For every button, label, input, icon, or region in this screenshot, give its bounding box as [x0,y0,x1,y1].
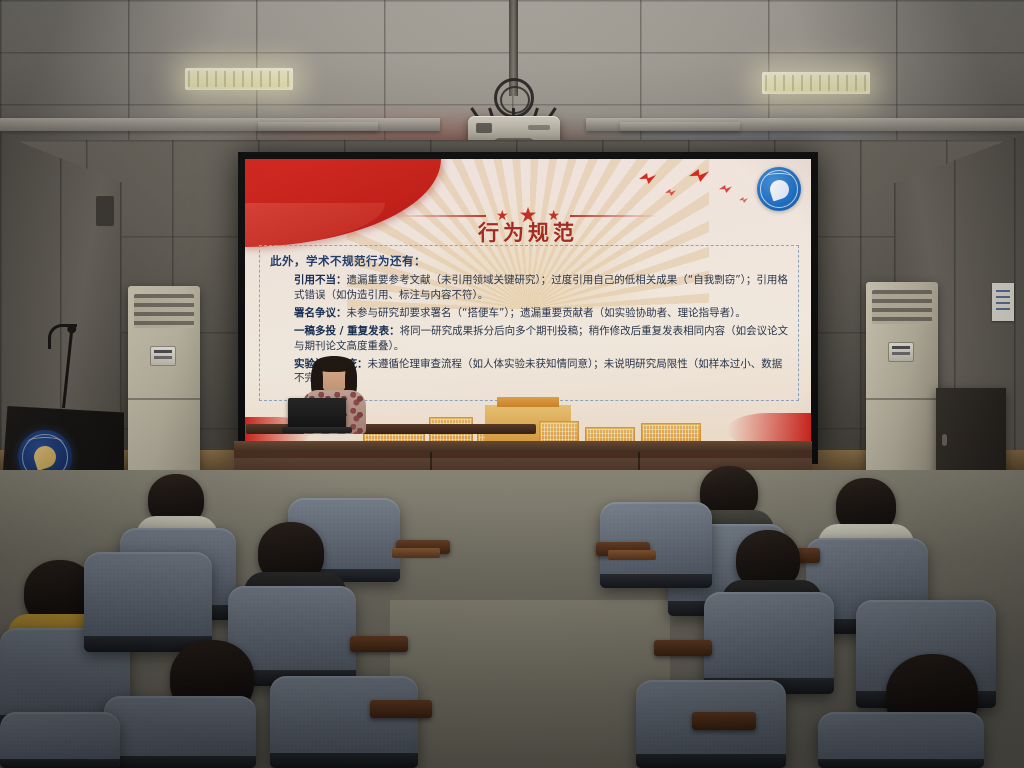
projector-label [528,125,550,130]
seat-row3-far-left[interactable] [0,712,120,768]
ac-vent-grille-left [134,294,194,328]
ac-seam-left [128,398,200,400]
projector-vent [476,123,492,133]
bullet-2-text: 未参与研究却要求署名（“搭便车”）；遗漏重要贡献者（如实验协助者、理论指导者）。 [347,307,746,319]
air-conditioner-right [866,282,938,478]
center-aisle [390,600,670,768]
air-conditioner-left [128,286,200,472]
seat-row3-right[interactable] [818,712,984,768]
wall-speaker [96,196,114,226]
wall-notice-sign [992,283,1014,321]
cabinet-handle[interactable] [942,434,947,446]
laptop-base [282,427,352,433]
bullet-2-term: 署名争议： [294,307,347,319]
lecture-hall-photo: ★ ★ ★ 行为规范 此外，学术不规范行为还有： 引用不当：遗漏重要参考文献（未… [0,0,1024,768]
seat-row3-left[interactable] [104,696,256,768]
armrest-row2-left [350,636,408,652]
slide-title: 行为规范 [245,217,811,247]
writing-tablet-left[interactable] [392,548,440,558]
slide-bullet-3: 一稿多投 / 重复发表：将同一研究成果拆分后向多个期刊投稿；稍作修改后重复发表相… [268,324,790,354]
bullet-4-text: 未遵循伦理审查流程（如人体实验未获知情同意）；未说明研究局限性（如样本过小、数据… [294,358,782,385]
presenter-laptop[interactable] [288,398,346,428]
bullet-1-text: 遗漏重要参考文献（未引用领域关键研究）；过度引用自己的低相关成果（“自我剽窃”）… [294,274,788,301]
armrest-row3-right [692,712,756,730]
writing-tablet-right[interactable] [608,550,656,560]
bullet-1-term: 引用不当： [294,274,347,286]
slide-bullet-2: 署名争议：未参与研究却要求署名（“搭便车”）；遗漏重要贡献者（如实验协助者、理论… [268,306,790,321]
slide-bullet-1: 引用不当：遗漏重要参考文献（未引用领域关键研究）；过度引用自己的低相关成果（“自… [268,273,790,303]
ac-vent-grille-right [872,290,932,324]
armrest-row2-right [654,640,712,656]
seat-row2-right[interactable] [704,592,834,694]
bullet-3-term: 一稿多投 / 重复发表： [294,325,400,337]
ceiling-vent-left [258,122,378,131]
armrest-row3-left [370,700,432,718]
seat-row2-left[interactable] [84,552,212,652]
skyline-center-roof [497,397,559,407]
ac-control-panel-right[interactable] [888,342,914,362]
slide-heading: 此外，学术不规范行为还有： [270,253,790,269]
ac-seam-right [866,398,938,400]
seat-row3-center-left[interactable] [270,676,418,768]
ceiling-light-left [185,68,293,90]
ac-control-panel-left[interactable] [150,346,176,366]
ceiling-vent-right [620,122,740,131]
ceiling-light-right [762,72,870,94]
